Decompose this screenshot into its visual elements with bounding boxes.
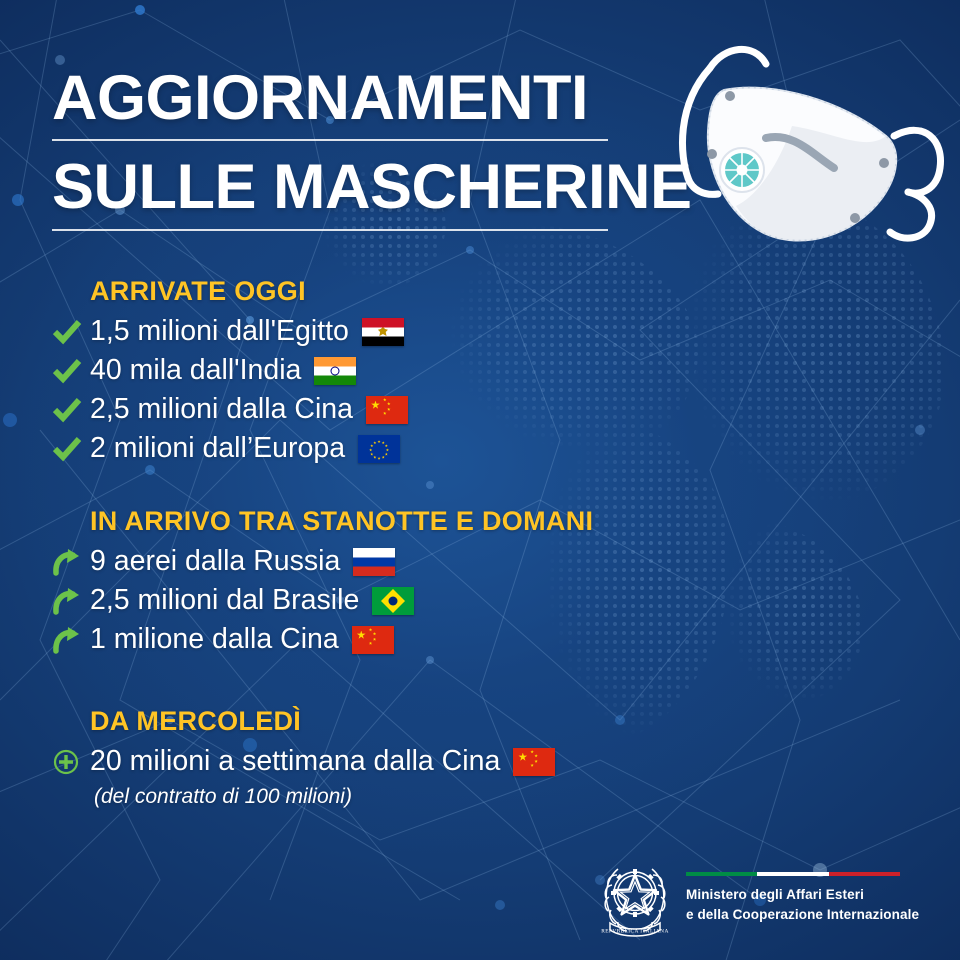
title-line-1: AGGIORNAMENTI <box>52 66 652 130</box>
list-item: 2,5 milioni dalla Cina <box>52 390 408 429</box>
title-divider-2 <box>52 229 608 231</box>
flag-egypt <box>362 318 404 346</box>
list-item: 9 aerei dalla Russia <box>52 542 593 581</box>
list-item-label: 20 milioni a settimana dalla Cina <box>90 747 500 776</box>
flag-china <box>366 396 408 424</box>
eu-stars <box>371 440 388 457</box>
list-item-label: 2,5 milioni dal Brasile <box>90 586 359 615</box>
tricolor-red <box>829 872 900 876</box>
list-item-label: 2 milioni dall’Europa <box>90 434 345 463</box>
title-line-2: SULLE MASCHERINE <box>52 155 652 219</box>
plus-circle-icon <box>52 747 90 777</box>
page-title: AGGIORNAMENTI SULLE MASCHERINE <box>52 66 652 231</box>
curved-arrow-icon <box>52 586 90 616</box>
face-mask-icon <box>662 28 960 283</box>
list-item: 20 milioni a settimana dalla Cina <box>52 742 555 781</box>
contract-note: (del contratto di 100 milioni) <box>94 785 555 809</box>
ministry-name-line-2: e della Cooperazione Internazionale <box>686 905 919 924</box>
flag-china <box>352 626 394 654</box>
svg-text:REPVBBLICA ITALIANA: REPVBBLICA ITALIANA <box>601 929 669 935</box>
section-arrivate-oggi: ARRIVATE OGGI 1,5 milioni dall'Egitto 40… <box>52 276 408 468</box>
ministry-name-line-1: Ministero degli Affari Esteri <box>686 885 919 904</box>
curved-arrow-icon <box>52 625 90 655</box>
check-icon <box>52 434 90 464</box>
flag-russia <box>353 548 395 576</box>
section-heading: IN ARRIVO TRA STANOTTE E DOMANI <box>90 506 593 537</box>
ministry-text-block: Ministero degli Affari Esteri e della Co… <box>686 868 919 923</box>
flag-china <box>513 748 555 776</box>
title-divider-1 <box>52 139 608 141</box>
infographic-poster: AGGIORNAMENTI SULLE MASCHERINE <box>0 0 960 960</box>
flag-brazil <box>372 587 414 615</box>
check-icon <box>52 356 90 386</box>
list-item-label: 1 milione dalla Cina <box>90 625 339 654</box>
list-item: 1,5 milioni dall'Egitto <box>52 312 408 351</box>
flag-europe <box>358 435 400 463</box>
list-item: 2 milioni dall’Europa <box>52 429 408 468</box>
section-in-arrivo: IN ARRIVO TRA STANOTTE E DOMANI 9 aerei … <box>52 506 593 659</box>
curved-arrow-icon <box>52 547 90 577</box>
section-heading: ARRIVATE OGGI <box>90 276 408 307</box>
flag-india <box>314 357 356 385</box>
check-icon <box>52 395 90 425</box>
tricolor-green <box>686 872 757 876</box>
list-item-label: 9 aerei dalla Russia <box>90 547 340 576</box>
emblem-of-italy-icon: REPVBBLICA ITALIANA <box>598 853 672 939</box>
list-item: 40 mila dall'India <box>52 351 408 390</box>
italian-tricolor-bar <box>686 872 900 876</box>
list-item: 2,5 milioni dal Brasile <box>52 581 593 620</box>
list-item-label: 1,5 milioni dall'Egitto <box>90 317 349 346</box>
list-item-label: 40 mila dall'India <box>90 356 301 385</box>
list-item-label: 2,5 milioni dalla Cina <box>90 395 353 424</box>
section-heading: DA MERCOLEDÌ <box>90 706 555 737</box>
check-icon <box>52 317 90 347</box>
section-da-mercoledi: DA MERCOLEDÌ 20 milioni a settimana dall… <box>52 706 555 809</box>
tricolor-white <box>757 872 828 876</box>
ministry-footer: REPVBBLICA ITALIANA Ministero degli Affa… <box>598 848 942 944</box>
list-item: 1 milione dalla Cina <box>52 620 593 659</box>
